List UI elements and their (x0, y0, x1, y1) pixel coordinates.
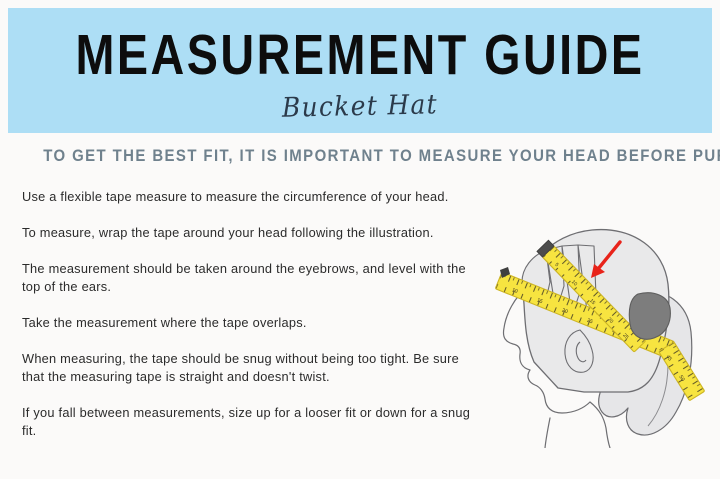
instruction-paragraph: To measure, wrap the tape around your he… (22, 224, 478, 242)
product-subtitle: Bucket Hat (36, 85, 684, 130)
instruction-paragraph: The measurement should be taken around t… (22, 260, 478, 296)
tagline: TO GET THE BEST FIT, IT IS IMPORTANT TO … (43, 146, 677, 166)
header-band: MEASUREMENT GUIDE Bucket Hat (8, 8, 712, 133)
instructions-list: Use a flexible tape measure to measure t… (22, 188, 492, 440)
instruction-paragraph: Take the measurement where the tape over… (22, 314, 478, 332)
instruction-paragraph: When measuring, the tape should be snug … (22, 350, 478, 386)
instruction-paragraph: Use a flexible tape measure to measure t… (22, 188, 478, 206)
head-measurement-illustration: 10 15 20 25 30 35 40 45 50 (488, 212, 720, 448)
measurement-guide-page: MEASUREMENT GUIDE Bucket Hat TO GET THE … (0, 0, 720, 479)
instruction-paragraph: If you fall between measurements, size u… (22, 404, 478, 440)
page-title: MEASUREMENT GUIDE (71, 27, 648, 84)
